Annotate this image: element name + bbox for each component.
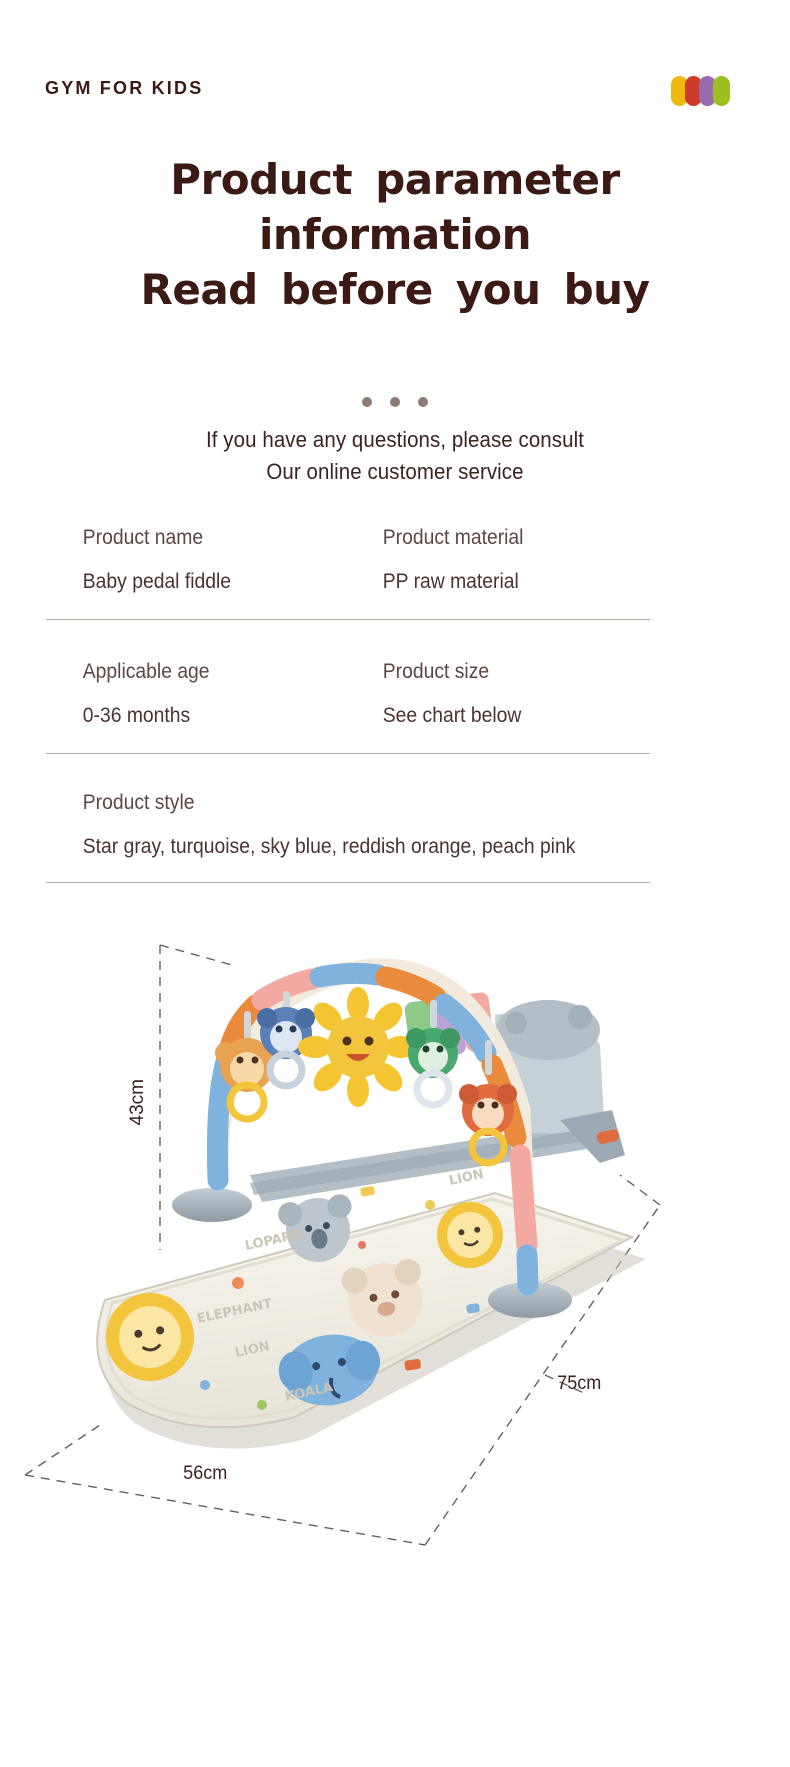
spec-label: Product name bbox=[46, 523, 322, 553]
spec-value: PP raw material bbox=[346, 567, 622, 597]
dot-2-icon bbox=[390, 397, 400, 407]
spec-cell-product-size: Product size See chart below bbox=[346, 657, 646, 731]
dimension-label-height: 43cm bbox=[127, 1079, 149, 1125]
product-illustration: LION KOALA LOPARD ELEPHANT LION bbox=[0, 905, 790, 1762]
spec-cell-applicable-age: Applicable age 0-36 months bbox=[46, 657, 346, 731]
page-header: GYM FOR KIDS bbox=[0, 0, 790, 130]
page-title: Product parameter information Read befor… bbox=[0, 152, 790, 317]
table-row: Product style Star gray, turquoise, sky … bbox=[46, 754, 650, 882]
pill-green-icon bbox=[713, 76, 730, 106]
table-row: Applicable age 0-36 months Product size … bbox=[46, 620, 650, 753]
dimension-label-depth: 75cm bbox=[557, 1373, 601, 1395]
title-line-1: Product parameter bbox=[0, 152, 790, 207]
spec-value: Star gray, turquoise, sky blue, reddish … bbox=[46, 832, 602, 862]
brand-logo-text: GYM FOR KIDS bbox=[45, 78, 203, 99]
title-line-3: Read before you buy bbox=[0, 262, 790, 317]
spec-cell-product-style: Product style Star gray, turquoise, sky … bbox=[46, 788, 650, 862]
spec-cell-product-name: Product name Baby pedal fiddle bbox=[46, 523, 346, 597]
spec-value: See chart below bbox=[346, 701, 622, 731]
spec-label: Applicable age bbox=[46, 657, 322, 687]
dot-separator bbox=[0, 393, 790, 411]
table-row: Product name Baby pedal fiddle Product m… bbox=[46, 510, 650, 619]
brand-color-pills bbox=[671, 76, 733, 106]
spec-value: 0-36 months bbox=[46, 701, 322, 731]
dimension-label-width: 56cm bbox=[183, 1463, 227, 1485]
spec-value: Baby pedal fiddle bbox=[46, 567, 322, 597]
spec-label: Product size bbox=[346, 657, 622, 687]
dot-3-icon bbox=[418, 397, 428, 407]
subtitle-line-1: If you have any questions, please consul… bbox=[28, 424, 763, 456]
spec-label: Product style bbox=[46, 788, 602, 818]
spec-cell-product-material: Product material PP raw material bbox=[346, 523, 646, 597]
toy-sunflower bbox=[298, 987, 418, 1107]
subtitle-line-2: Our online customer service bbox=[28, 456, 763, 488]
title-line-2: information bbox=[0, 207, 790, 262]
product-photo: LION KOALA LOPARD ELEPHANT LION bbox=[0, 905, 790, 1762]
subtitle-block: If you have any questions, please consul… bbox=[0, 424, 790, 488]
spec-table: Product name Baby pedal fiddle Product m… bbox=[46, 510, 650, 883]
row-divider bbox=[46, 882, 650, 883]
spec-label: Product material bbox=[346, 523, 622, 553]
dot-1-icon bbox=[362, 397, 372, 407]
